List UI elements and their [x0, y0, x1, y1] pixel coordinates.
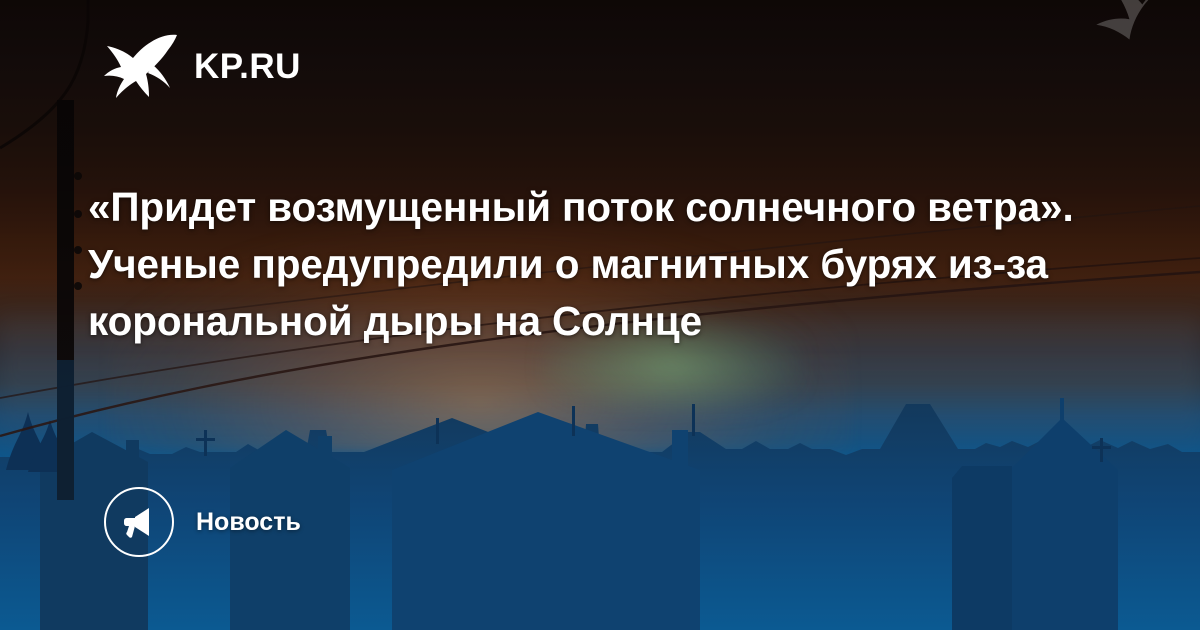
card-content: KP.RU «Придет возмущенный поток солнечно…: [0, 0, 1200, 630]
badge-circle: [104, 487, 174, 557]
megaphone-icon: [122, 505, 156, 539]
social-share-card: KP.RU «Придет возмущенный поток солнечно…: [0, 0, 1200, 630]
badge-label: Новость: [196, 510, 301, 535]
headline: «Придет возмущенный поток солнечного вет…: [88, 179, 1098, 350]
swallow-bird-icon: [104, 33, 178, 99]
brand-logo-group[interactable]: KP.RU: [104, 33, 301, 99]
news-badge[interactable]: Новость: [104, 487, 301, 557]
brand-name: KP.RU: [194, 49, 301, 84]
